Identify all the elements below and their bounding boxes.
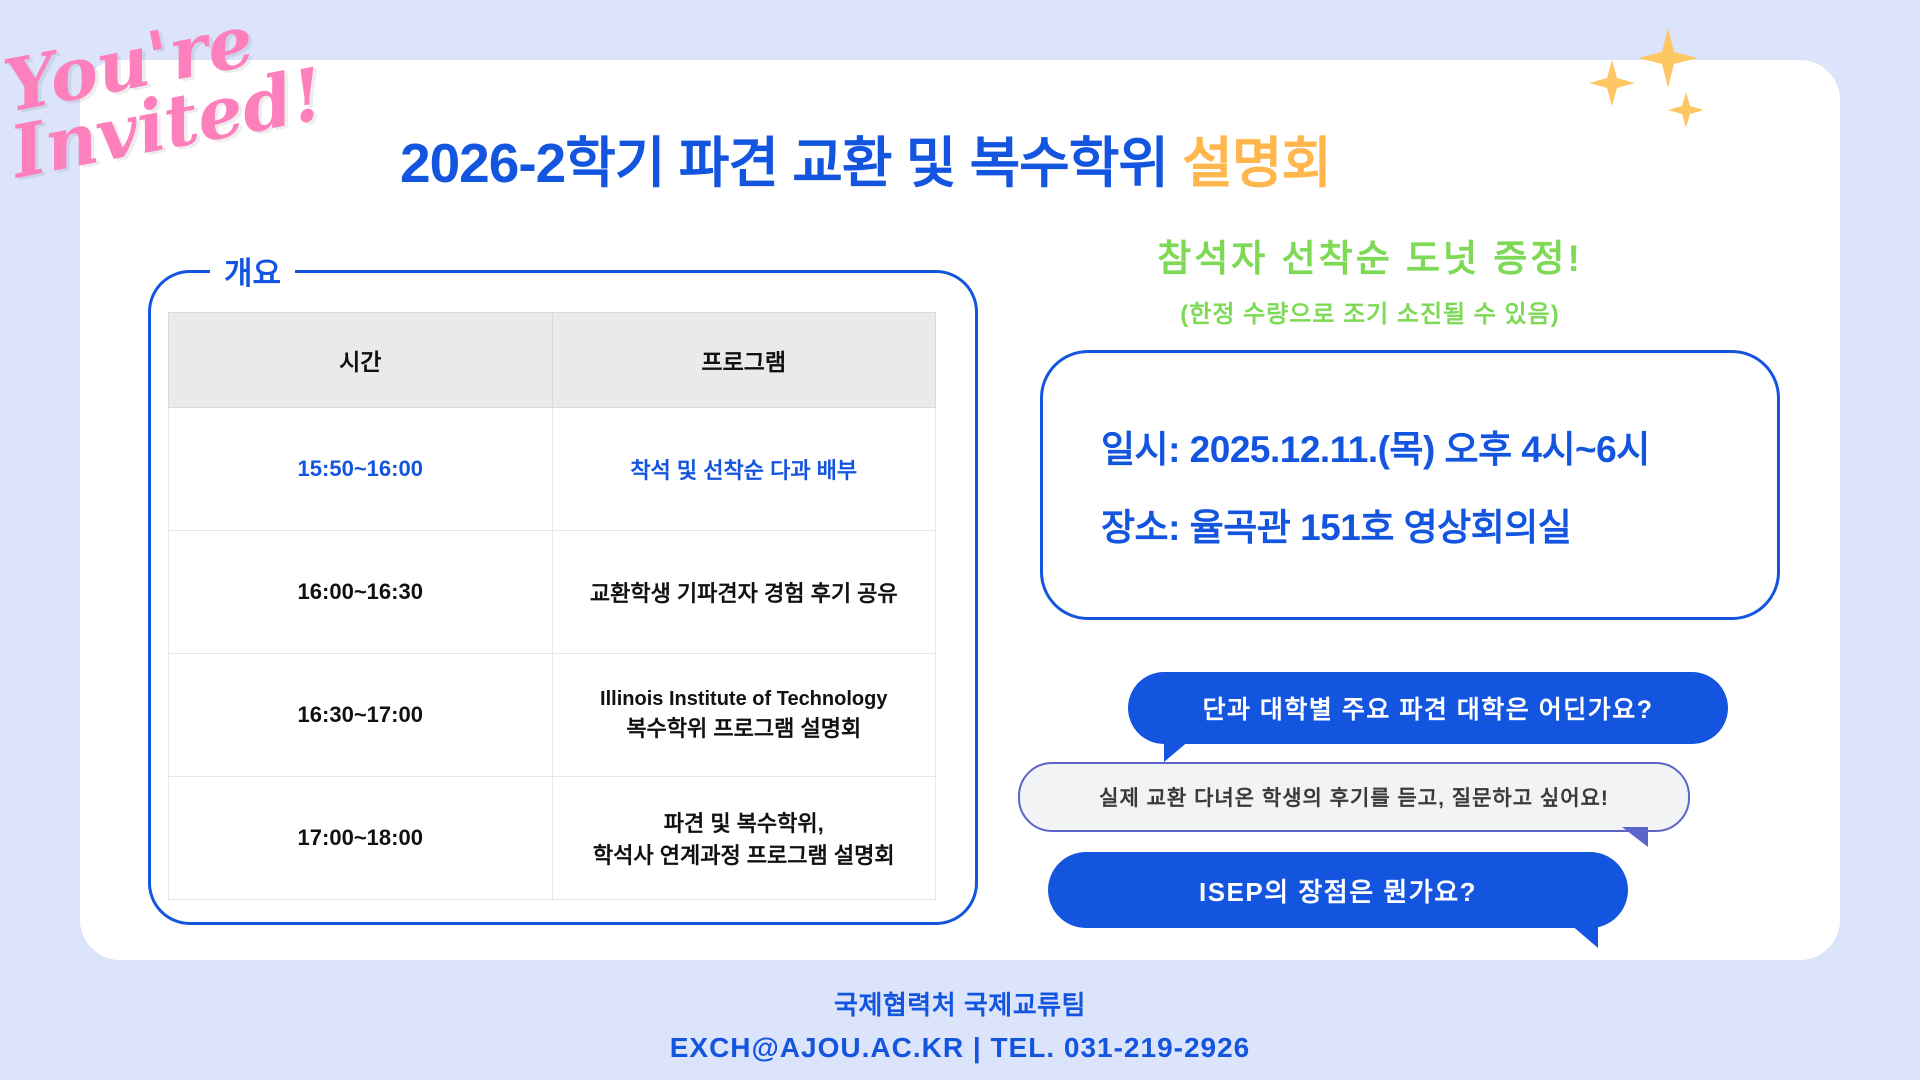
table-row: 15:50~16:00 착석 및 선착순 다과 배부 [169, 408, 936, 531]
title-orange-part: 설명회 [1182, 132, 1331, 194]
table-row: 16:30~17:00 Illinois Institute of Techno… [169, 654, 936, 777]
page-title: 2026-2학기 파견 교환 및 복수학위 설명회 [400, 118, 1331, 198]
cell-program-line1: 착석 및 선착순 다과 배부 [563, 453, 926, 485]
table-header-row: 시간 프로그램 [169, 313, 936, 408]
cell-program-line2: 학석사 연계과정 프로그램 설명회 [563, 838, 926, 870]
cell-time: 15:50~16:00 [169, 408, 553, 531]
cell-time: 16:30~17:00 [169, 654, 553, 777]
column-header-program: 프로그램 [552, 313, 936, 408]
cell-program-line1: 파견 및 복수학위, [563, 806, 926, 838]
table-row: 17:00~18:00 파견 및 복수학위, 학석사 연계과정 프로그램 설명회 [169, 777, 936, 900]
schedule-table: 시간 프로그램 15:50~16:00 착석 및 선착순 다과 배부 16:00… [168, 312, 936, 900]
promo-main-text: 참석자 선착순 도넛 증정! [1020, 228, 1720, 282]
question-bubble-3: ISEP의 장점은 뭔가요? [1048, 852, 1628, 928]
cell-program: Illinois Institute of Technology 복수학위 프로… [552, 654, 936, 777]
cell-program: 착석 및 선착순 다과 배부 [552, 408, 936, 531]
title-blue-part: 2026-2학기 파견 교환 및 복수학위 [400, 132, 1168, 194]
question-bubble-1: 단과 대학별 주요 파견 대학은 어딘가요? [1128, 672, 1728, 744]
promo-sub-text: (한정 수량으로 조기 소진될 수 있음) [1020, 294, 1720, 329]
footer-department: 국제협력처 국제교류팀 [0, 985, 1920, 1022]
column-header-time: 시간 [169, 313, 553, 408]
footer-contact: EXCH@AJOU.AC.KR | TEL. 031-219-2926 [0, 1032, 1920, 1064]
cell-program-line1: 교환학생 기파견자 경험 후기 공유 [563, 576, 926, 608]
footer: 국제협력처 국제교류팀 EXCH@AJOU.AC.KR | TEL. 031-2… [0, 985, 1920, 1064]
cell-program: 파견 및 복수학위, 학석사 연계과정 프로그램 설명회 [552, 777, 936, 900]
cell-time: 16:00~16:30 [169, 531, 553, 654]
event-date-row: 일시: 2025.12.11.(목) 오후 4시~6시 [1101, 419, 1777, 473]
cell-program-line2: 복수학위 프로그램 설명회 [563, 711, 926, 743]
cell-program: 교환학생 기파견자 경험 후기 공유 [552, 531, 936, 654]
event-place-row: 장소: 율곡관 151호 영상회의실 [1101, 497, 1777, 551]
event-info-box: 일시: 2025.12.11.(목) 오후 4시~6시 장소: 율곡관 151호… [1040, 350, 1780, 620]
question-bubble-2: 실제 교환 다녀온 학생의 후기를 듣고, 질문하고 싶어요! [1018, 762, 1690, 832]
cell-program-line1: Illinois Institute of Technology [563, 688, 926, 711]
outline-label: 개요 [210, 248, 295, 293]
table-row: 16:00~16:30 교환학생 기파견자 경험 후기 공유 [169, 531, 936, 654]
donut-promo: 참석자 선착순 도넛 증정! (한정 수량으로 조기 소진될 수 있음) [1020, 228, 1720, 329]
cell-time: 17:00~18:00 [169, 777, 553, 900]
